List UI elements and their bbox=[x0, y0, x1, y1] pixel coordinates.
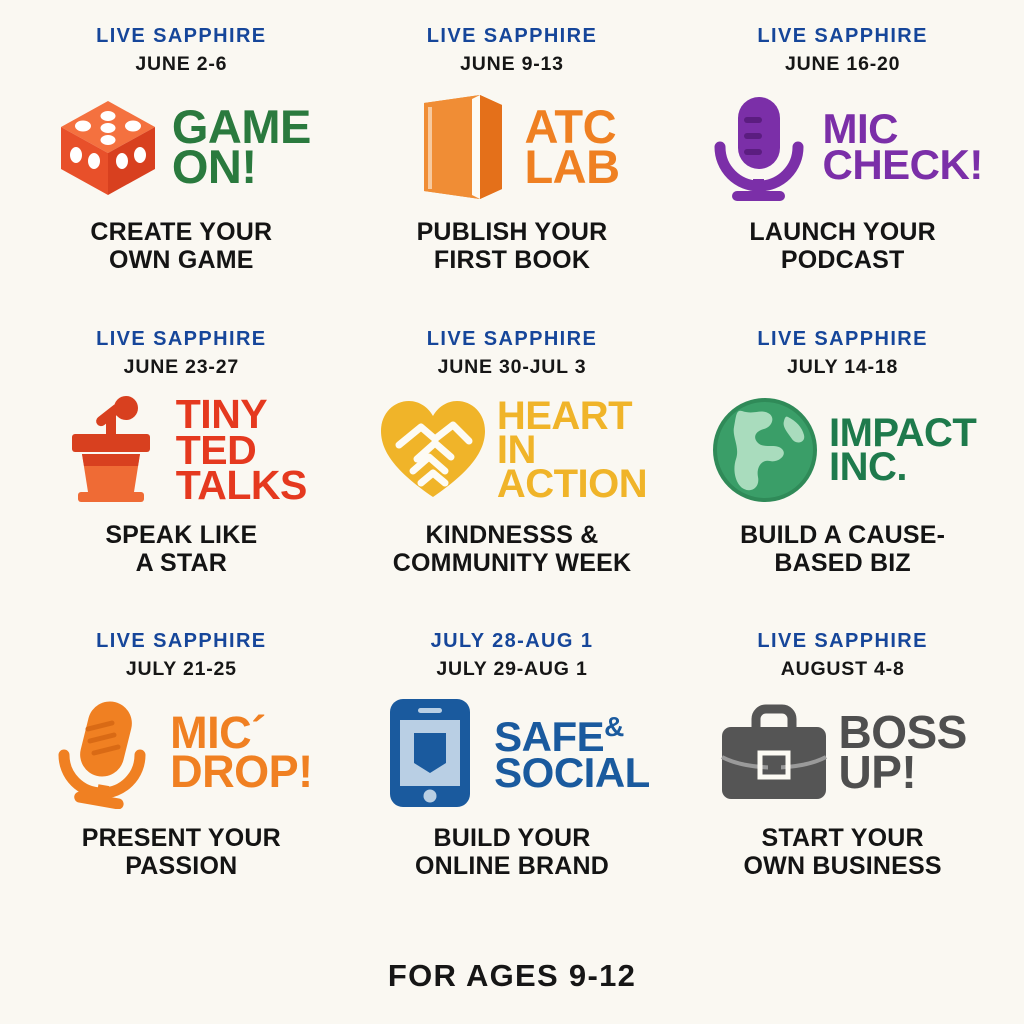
session-wordmark: MIC CHECK! bbox=[822, 111, 982, 183]
camp-schedule-poster: LIVE SAPPHIRE JUNE 2-6 bbox=[0, 0, 1024, 1024]
session-card-impact-inc[interactable]: LIVE SAPPHIRE JULY 14-18 IMPACT INC. BUI… bbox=[679, 329, 1006, 626]
ampersand-glyph: & bbox=[604, 711, 624, 742]
wordmark-line-2: UP! bbox=[838, 753, 966, 793]
session-logo-lockup: MIC´ DROP! bbox=[50, 692, 313, 814]
session-dates: JULY 14-18 bbox=[787, 357, 898, 377]
session-eyebrow: JULY 28-AUG 1 bbox=[431, 631, 594, 652]
session-logo-lockup: TINY TED TALKS bbox=[56, 389, 307, 511]
session-card-mic-check[interactable]: LIVE SAPPHIRE JUNE 16-20 MIC bbox=[679, 26, 1006, 323]
session-eyebrow: LIVE SAPPHIRE bbox=[757, 329, 927, 350]
book-icon bbox=[404, 91, 516, 203]
session-wordmark: GAME ON! bbox=[172, 107, 311, 188]
session-eyebrow: LIVE SAPPHIRE bbox=[757, 631, 927, 652]
session-logo-lockup: HEART IN ACTION bbox=[377, 389, 647, 511]
session-dates: JUNE 9-13 bbox=[460, 54, 564, 74]
session-wordmark: MIC´ DROP! bbox=[170, 714, 313, 791]
session-wordmark: TINY TED TALKS bbox=[176, 397, 307, 503]
session-logo-lockup: BOSS UP! bbox=[718, 692, 966, 814]
session-eyebrow: LIVE SAPPHIRE bbox=[427, 26, 597, 47]
wordmark-line-2: ON! bbox=[172, 147, 311, 187]
session-card-boss-up[interactable]: LIVE SAPPHIRE AUGUST 4-8 BOSS UP! bbox=[679, 631, 1006, 928]
session-eyebrow: LIVE SAPPHIRE bbox=[427, 329, 597, 350]
session-logo-lockup: SAFE& SOCIAL bbox=[374, 692, 650, 814]
session-card-heart-in-action[interactable]: LIVE SAPPHIRE JUNE 30-JUL 3 bbox=[349, 329, 676, 626]
session-dates: JUNE 30-JUL 3 bbox=[438, 357, 587, 377]
session-wordmark: BOSS UP! bbox=[838, 713, 966, 792]
session-dates: AUGUST 4-8 bbox=[781, 659, 905, 679]
session-dates: JUNE 2-6 bbox=[135, 54, 227, 74]
poster-footer: FOR AGES 9-12 bbox=[18, 928, 1006, 1024]
session-eyebrow: LIVE SAPPHIRE bbox=[96, 329, 266, 350]
heart-handshake-icon bbox=[377, 394, 489, 506]
session-tagline: KINDNESSS & COMMUNITY WEEK bbox=[393, 521, 631, 577]
phone-shield-icon bbox=[374, 697, 486, 809]
globe-icon bbox=[709, 394, 821, 506]
session-logo-lockup: IMPACT INC. bbox=[709, 389, 976, 511]
session-tagline: CREATE YOUR OWN GAME bbox=[90, 218, 272, 274]
session-tagline: BUILD A CAUSE- BASED BIZ bbox=[740, 521, 945, 577]
wordmark-line-3: ACTION bbox=[497, 467, 647, 501]
session-dates: JUNE 23-27 bbox=[124, 357, 239, 377]
session-wordmark: IMPACT INC. bbox=[829, 416, 976, 485]
wordmark-line-2: SOCIAL bbox=[494, 755, 650, 791]
session-logo-lockup: MIC CHECK! bbox=[702, 86, 982, 208]
microphone-icon bbox=[702, 91, 814, 203]
microphone-drop-icon bbox=[50, 697, 162, 809]
session-card-safe-and-social[interactable]: JULY 28-AUG 1 JULY 29-AUG 1 SAFE& SOCIAL bbox=[349, 631, 676, 928]
briefcase-icon bbox=[718, 697, 830, 809]
session-wordmark: ATC LAB bbox=[524, 107, 619, 188]
session-card-tiny-ted-talks[interactable]: LIVE SAPPHIRE JUNE 23-27 TINY bbox=[18, 329, 345, 626]
session-logo-lockup: GAME ON! bbox=[52, 86, 311, 208]
session-card-mic-drop[interactable]: LIVE SAPPHIRE JULY 21-25 bbox=[18, 631, 345, 928]
podium-icon bbox=[56, 394, 168, 506]
session-dates: JULY 29-AUG 1 bbox=[436, 659, 587, 679]
session-eyebrow: LIVE SAPPHIRE bbox=[96, 26, 266, 47]
wordmark-line-2: INC. bbox=[829, 450, 976, 484]
session-eyebrow: LIVE SAPPHIRE bbox=[757, 26, 927, 47]
session-dates: JULY 21-25 bbox=[126, 659, 237, 679]
session-tagline: START YOUR OWN BUSINESS bbox=[744, 824, 942, 880]
session-tagline: SPEAK LIKE A STAR bbox=[105, 521, 257, 577]
session-wordmark: HEART IN ACTION bbox=[497, 399, 647, 502]
session-logo-lockup: ATC LAB bbox=[404, 86, 619, 208]
session-tagline: PUBLISH YOUR FIRST BOOK bbox=[417, 218, 608, 274]
session-tagline: PRESENT YOUR PASSION bbox=[82, 824, 281, 880]
session-card-atc-lab[interactable]: LIVE SAPPHIRE JUNE 9-13 ATC LAB bbox=[349, 26, 676, 323]
session-tagline: BUILD YOUR ONLINE BRAND bbox=[415, 824, 609, 880]
wordmark-line-2: LAB bbox=[524, 147, 619, 187]
dice-icon bbox=[52, 91, 164, 203]
wordmark-line-2: DROP! bbox=[170, 753, 313, 792]
camp-session-grid: LIVE SAPPHIRE JUNE 2-6 bbox=[18, 26, 1006, 928]
session-dates: JUNE 16-20 bbox=[785, 54, 900, 74]
session-wordmark: SAFE& SOCIAL bbox=[494, 715, 650, 791]
age-range-label: FOR AGES 9-12 bbox=[388, 958, 636, 994]
session-eyebrow: LIVE SAPPHIRE bbox=[96, 631, 266, 652]
session-tagline: LAUNCH YOUR PODCAST bbox=[749, 218, 935, 274]
wordmark-line-2: CHECK! bbox=[822, 147, 982, 183]
session-card-game-on[interactable]: LIVE SAPPHIRE JUNE 2-6 bbox=[18, 26, 345, 323]
wordmark-line-3: TALKS bbox=[176, 468, 307, 503]
